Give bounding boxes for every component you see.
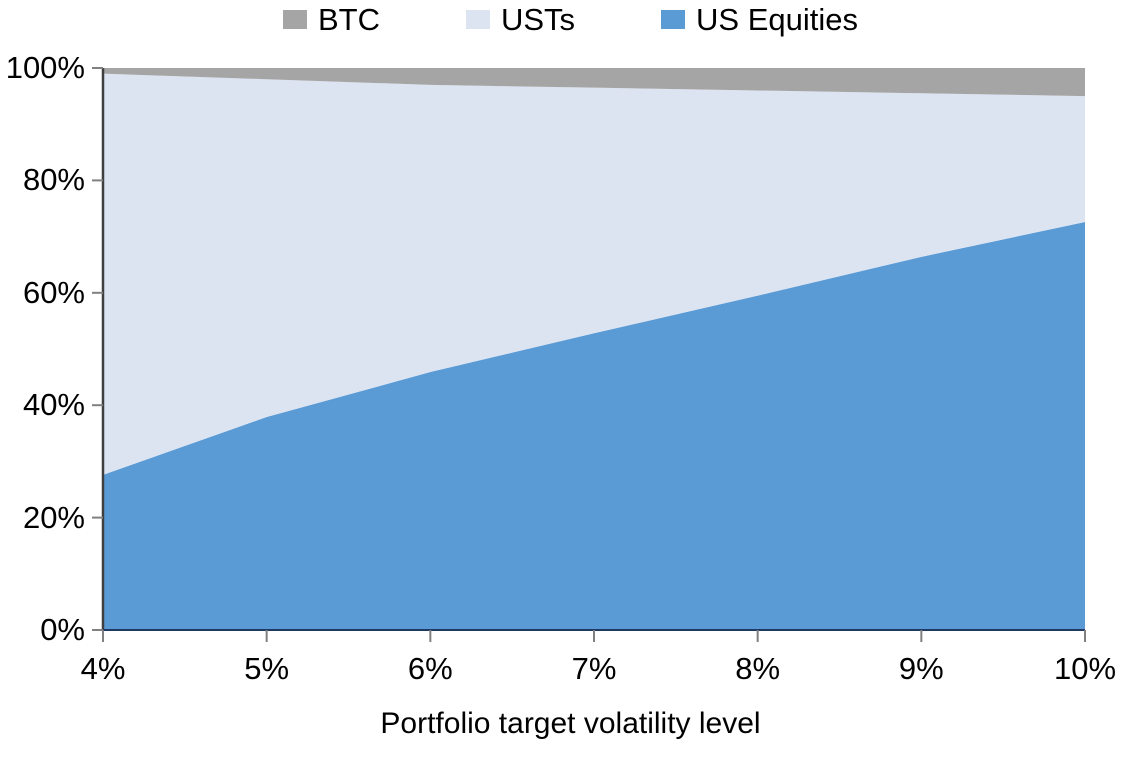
x-axis-tick-label: 4%	[43, 653, 163, 684]
stacked-area-chart: BTC USTs US Equities 0%20%40%60%80%100% …	[0, 0, 1141, 763]
x-axis-tick-label: 7%	[534, 653, 654, 684]
x-axis-tick-label: 8%	[698, 653, 818, 684]
plot-area	[0, 0, 1141, 763]
x-axis-tick-label: 9%	[861, 653, 981, 684]
y-axis-tick-label: 60%	[23, 277, 85, 308]
y-axis-tick-label: 0%	[40, 614, 85, 645]
x-axis-tick-label: 5%	[207, 653, 327, 684]
y-axis-tick-label: 20%	[23, 502, 85, 533]
y-axis-tick-label: 40%	[23, 389, 85, 420]
x-axis-title: Portfolio target volatility level	[0, 707, 1141, 741]
plot-svg	[0, 0, 1141, 763]
x-axis-tick-label: 10%	[1025, 653, 1141, 684]
x-axis-tick-label: 6%	[370, 653, 490, 684]
y-axis-tick-label: 100%	[6, 52, 85, 83]
y-axis-tick-label: 80%	[23, 164, 85, 195]
